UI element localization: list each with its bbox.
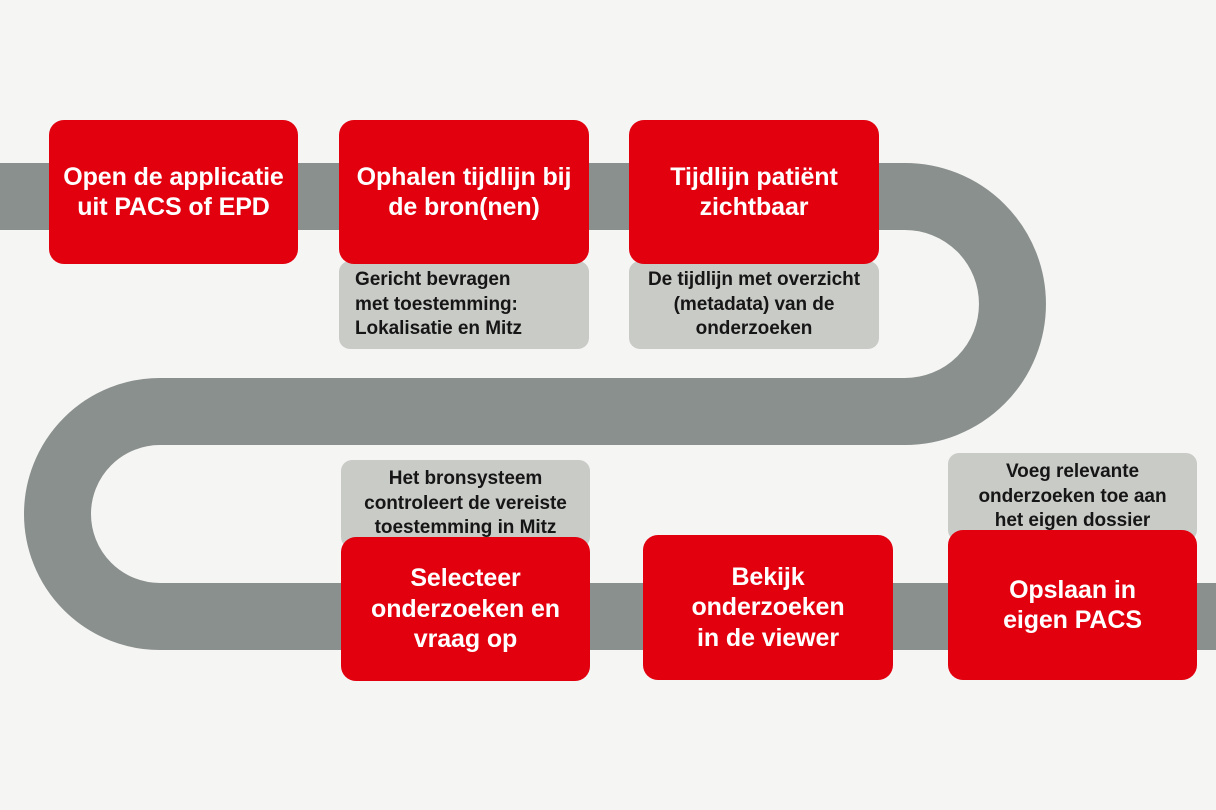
step-box-2-ophalen-tijdlijn[interactable]: Ophalen tijdlijn bij de bron(nen) <box>339 120 589 264</box>
step-box-4-selecteer-onderzoeken[interactable]: Selecteer onderzoeken en vraag op <box>341 537 590 681</box>
step-caption-3: De tijdlijn met overzicht (metadata) van… <box>629 261 879 349</box>
step-box-3-label: Tijdlijn patiënt zichtbaar <box>670 162 837 223</box>
process-flow-diagram: Gericht bevragen met toestemming: Lokali… <box>0 0 1216 810</box>
step-box-6-label: Opslaan in eigen PACS <box>1003 575 1142 636</box>
step-box-3-tijdlijn-patient[interactable]: Tijdlijn patiënt zichtbaar <box>629 120 879 264</box>
step-box-5-bekijk-onderzoeken[interactable]: Bekijk onderzoeken in de viewer <box>643 535 893 680</box>
step-caption-4-text: Het bronsysteem controleert de vereiste … <box>357 467 574 541</box>
step-caption-4: Het bronsysteem controleert de vereiste … <box>341 460 590 548</box>
step-caption-2-text: Gericht bevragen met toestemming: Lokali… <box>355 268 573 342</box>
step-caption-3-text: De tijdlijn met overzicht (metadata) van… <box>645 268 863 342</box>
step-box-6-opslaan-eigen-pacs[interactable]: Opslaan in eigen PACS <box>948 530 1197 680</box>
step-box-1-label: Open de applicatie uit PACS of EPD <box>63 162 283 223</box>
step-box-2-label: Ophalen tijdlijn bij de bron(nen) <box>357 162 572 223</box>
step-box-5-label: Bekijk onderzoeken in de viewer <box>691 562 844 654</box>
step-caption-6: Voeg relevante onderzoeken toe aan het e… <box>948 453 1197 541</box>
step-caption-2: Gericht bevragen met toestemming: Lokali… <box>339 261 589 349</box>
step-box-4-label: Selecteer onderzoeken en vraag op <box>371 563 560 655</box>
step-caption-6-text: Voeg relevante onderzoeken toe aan het e… <box>964 460 1181 534</box>
step-box-1-open-applicatie[interactable]: Open de applicatie uit PACS of EPD <box>49 120 298 264</box>
